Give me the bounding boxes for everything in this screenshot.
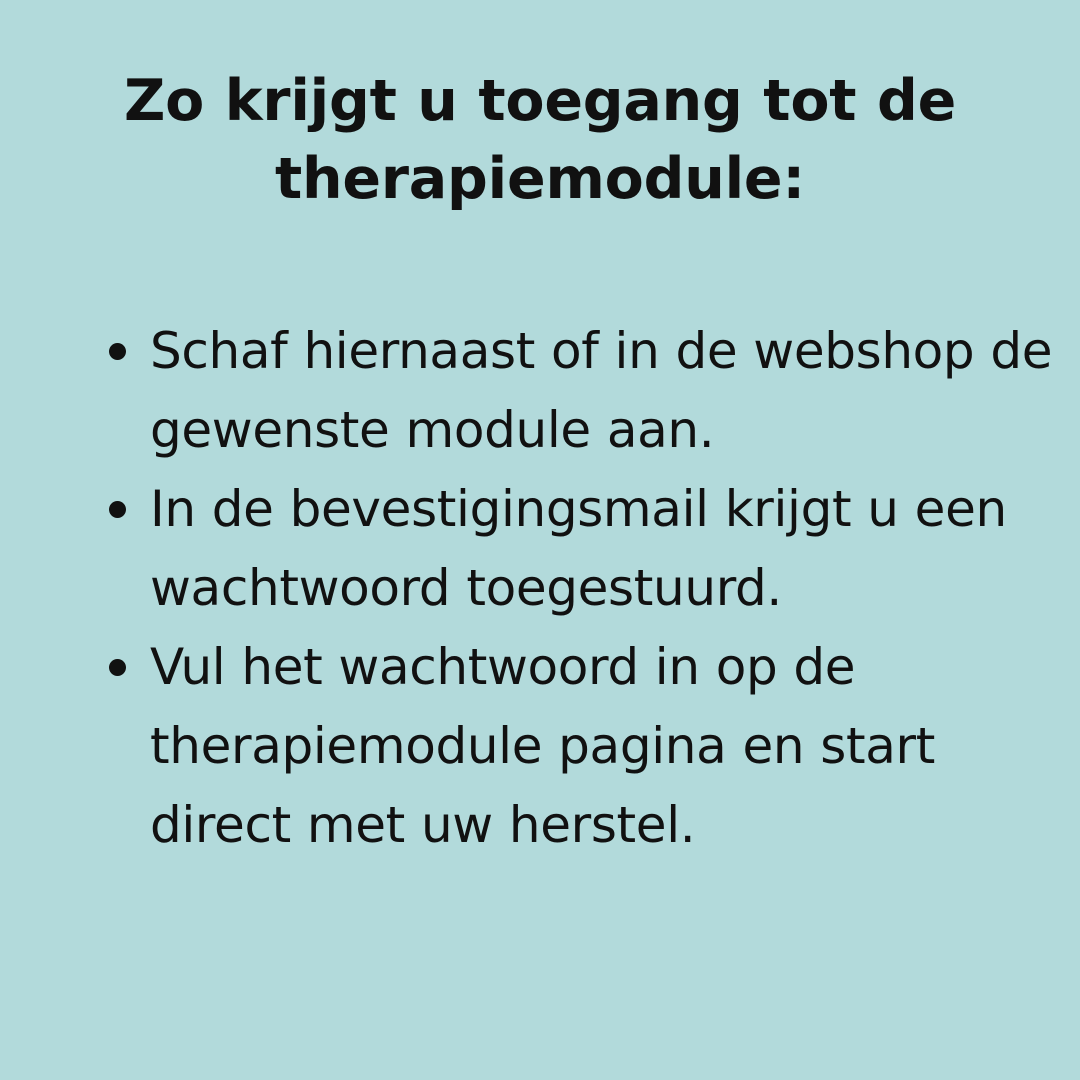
list-item: Vul het wachtwoord in op de therapiemodu… xyxy=(0,628,1080,865)
page-title-line-2: therapiemodule: xyxy=(90,140,990,218)
list-item: In de bevestigingsmail krijgt u een wach… xyxy=(0,470,1080,628)
bullet-disc-icon xyxy=(109,343,126,360)
bullet-disc-icon xyxy=(109,501,126,518)
list-item-text: In de bevestigingsmail krijgt u een wach… xyxy=(150,470,1054,628)
page-title: Zo krijgt u toegang tot de therapiemodul… xyxy=(0,62,1080,218)
list-item: Schaf hiernaast of in de webshop de gewe… xyxy=(0,312,1080,470)
slide-canvas: Zo krijgt u toegang tot de therapiemodul… xyxy=(0,0,1080,1080)
list-item-text: Vul het wachtwoord in op de therapiemodu… xyxy=(150,628,1054,865)
list-item-text: Schaf hiernaast of in de webshop de gewe… xyxy=(150,312,1054,470)
page-title-line-1: Zo krijgt u toegang tot de xyxy=(90,62,990,140)
bullet-disc-icon xyxy=(109,659,126,676)
instruction-list: Schaf hiernaast of in de webshop de gewe… xyxy=(0,312,1080,865)
